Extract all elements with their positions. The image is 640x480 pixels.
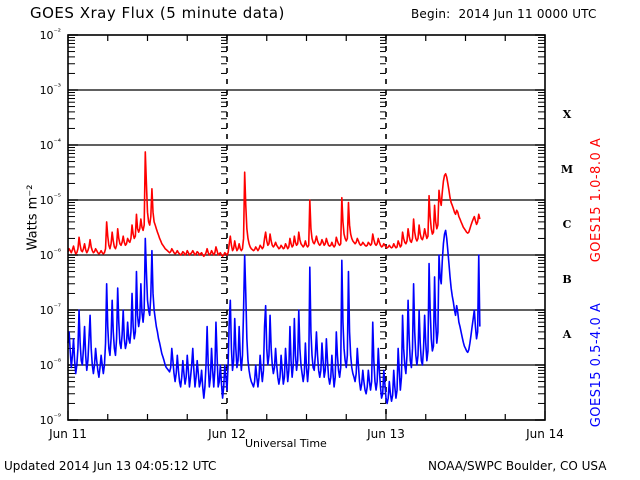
flare-class-label: M (561, 163, 573, 176)
x-tick-label: Jun 14 (525, 427, 564, 441)
y-tick-label: 10⁻⁸ (40, 357, 61, 372)
y-tick-label: 10⁻³ (40, 82, 61, 97)
y-tick-label: 10⁻⁷ (40, 302, 61, 317)
flare-class-label: B (562, 273, 571, 286)
y-tick-label: 10⁻² (40, 27, 61, 42)
x-tick-label: Jun 13 (366, 427, 405, 441)
series-line-0 (68, 152, 480, 256)
x-tick-labels: Jun 11Jun 12Jun 13Jun 14 (48, 427, 564, 441)
flare-class-label: A (562, 328, 572, 341)
x-tick-label: Jun 12 (207, 427, 246, 441)
series-line-1 (68, 230, 480, 403)
y-tick-labels: 10⁻²10⁻³10⁻⁴10⁻⁵10⁻⁶10⁻⁷10⁻⁸10⁻⁹ (40, 27, 61, 427)
legend-label-0: GOES15 1.0-8.0 A (589, 138, 604, 263)
y-tick-label: 10⁻⁴ (40, 137, 61, 152)
goes-xray-flux-plot: GOES Xray Flux (5 minute data) Begin: 20… (0, 0, 640, 480)
data-series (68, 152, 480, 404)
y-tick-label: 10⁻⁹ (40, 412, 61, 427)
flare-class-label: X (563, 108, 572, 121)
y-tick-label: 10⁻⁶ (40, 247, 61, 262)
flare-class-labels: XMCBA (561, 108, 573, 341)
flare-class-label: C (563, 218, 572, 231)
legend: GOES15 1.0-8.0 AGOES15 0.5-4.0 A (589, 138, 604, 428)
legend-label-1: GOES15 0.5-4.0 A (589, 303, 604, 428)
chart-canvas: 10⁻²10⁻³10⁻⁴10⁻⁵10⁻⁶10⁻⁷10⁻⁸10⁻⁹ Jun 11J… (0, 0, 640, 480)
y-tick-label: 10⁻⁵ (40, 192, 61, 207)
day-boundary-lines (221, 35, 386, 420)
x-tick-label: Jun 11 (48, 427, 87, 441)
